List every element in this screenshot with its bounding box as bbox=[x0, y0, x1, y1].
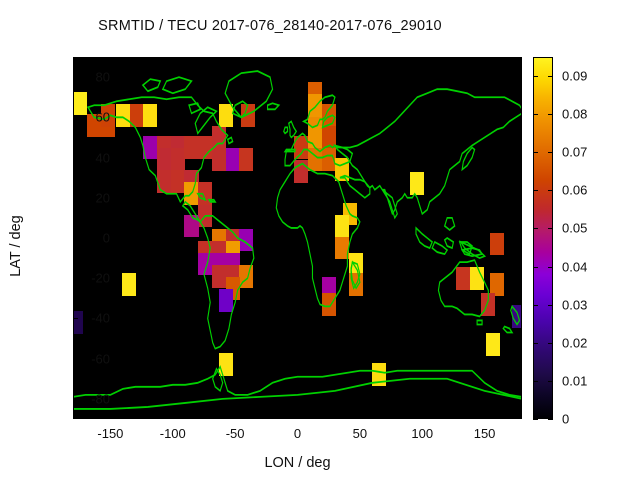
colorbar-tick-mark bbox=[548, 305, 553, 306]
y-axis-tick-mark bbox=[73, 117, 78, 118]
colorbar-tick-mark bbox=[533, 381, 538, 382]
colorbar-tick-mark bbox=[548, 76, 553, 77]
x-axis-tick-label: 0 bbox=[268, 426, 328, 441]
x-axis-label: LON / deg bbox=[73, 455, 522, 471]
colorbar-tick-label: 0.09 bbox=[562, 69, 587, 84]
x-axis-tick-label: 50 bbox=[330, 426, 390, 441]
y-axis-tick-mark bbox=[73, 238, 78, 239]
colorbar-tick-label: 0.05 bbox=[562, 221, 587, 236]
colorbar-tick-mark bbox=[533, 228, 538, 229]
y-axis-label: LAT / deg bbox=[8, 146, 24, 346]
colorbar-tick-mark bbox=[533, 305, 538, 306]
colorbar-tick-mark bbox=[533, 190, 538, 191]
colorbar-tick-label: 0.01 bbox=[562, 373, 587, 388]
x-axis-tick-label: -150 bbox=[80, 426, 140, 441]
colorbar-tick-label: 0 bbox=[562, 412, 569, 427]
y-axis-tick-mark bbox=[73, 278, 78, 279]
map-plot-area[interactable] bbox=[73, 57, 522, 419]
colorbar-tick-mark bbox=[533, 419, 538, 420]
x-axis-tick-label: 100 bbox=[392, 426, 452, 441]
colorbar-gradient bbox=[533, 57, 553, 419]
x-axis-tick-mark bbox=[298, 414, 299, 419]
chart-title: SRMTID / TECU 2017-076_28140-2017-076_29… bbox=[0, 18, 540, 34]
colorbar-tick-mark bbox=[533, 76, 538, 77]
y-axis-tick-mark bbox=[73, 158, 78, 159]
x-axis-tick-label: 150 bbox=[455, 426, 515, 441]
x-axis-tick-mark bbox=[235, 414, 236, 419]
colorbar-tick-mark bbox=[548, 419, 553, 420]
colorbar-tick-mark bbox=[548, 267, 553, 268]
x-axis-tick-mark bbox=[173, 414, 174, 419]
colorbar-tick-mark bbox=[548, 152, 553, 153]
colorbar-tick-label: 0.02 bbox=[562, 335, 587, 350]
x-axis-tick-mark bbox=[360, 414, 361, 419]
colorbar-tick-label: 0.06 bbox=[562, 183, 587, 198]
colorbar-tick-mark bbox=[533, 267, 538, 268]
figure-canvas: SRMTID / TECU 2017-076_28140-2017-076_29… bbox=[0, 0, 640, 480]
y-axis-tick-mark bbox=[73, 359, 78, 360]
x-axis-tick-label: -50 bbox=[205, 426, 265, 441]
colorbar-tick-label: 0.04 bbox=[562, 259, 587, 274]
colorbar-tick-mark bbox=[533, 114, 538, 115]
x-axis-tick-mark bbox=[422, 414, 423, 419]
colorbar-tick-mark bbox=[548, 381, 553, 382]
colorbar-tick-label: 0.08 bbox=[562, 107, 587, 122]
x-axis-tick-label: -100 bbox=[143, 426, 203, 441]
colorbar-tick-mark bbox=[548, 190, 553, 191]
colorbar-tick-label: 0.07 bbox=[562, 145, 587, 160]
colorbar-tick-mark bbox=[548, 343, 553, 344]
colorbar-tick-mark bbox=[548, 114, 553, 115]
x-axis-tick-mark bbox=[485, 414, 486, 419]
colorbar-tick-label: 0.03 bbox=[562, 297, 587, 312]
colorbar-tick-mark bbox=[548, 228, 553, 229]
x-axis-tick-mark bbox=[110, 414, 111, 419]
y-axis-tick-mark bbox=[73, 77, 78, 78]
y-axis-tick-mark bbox=[73, 399, 78, 400]
coastline-layer bbox=[73, 57, 522, 419]
y-axis-tick-mark bbox=[73, 198, 78, 199]
y-axis-tick-mark bbox=[73, 318, 78, 319]
colorbar-tick-mark bbox=[533, 152, 538, 153]
colorbar-tick-mark bbox=[533, 343, 538, 344]
